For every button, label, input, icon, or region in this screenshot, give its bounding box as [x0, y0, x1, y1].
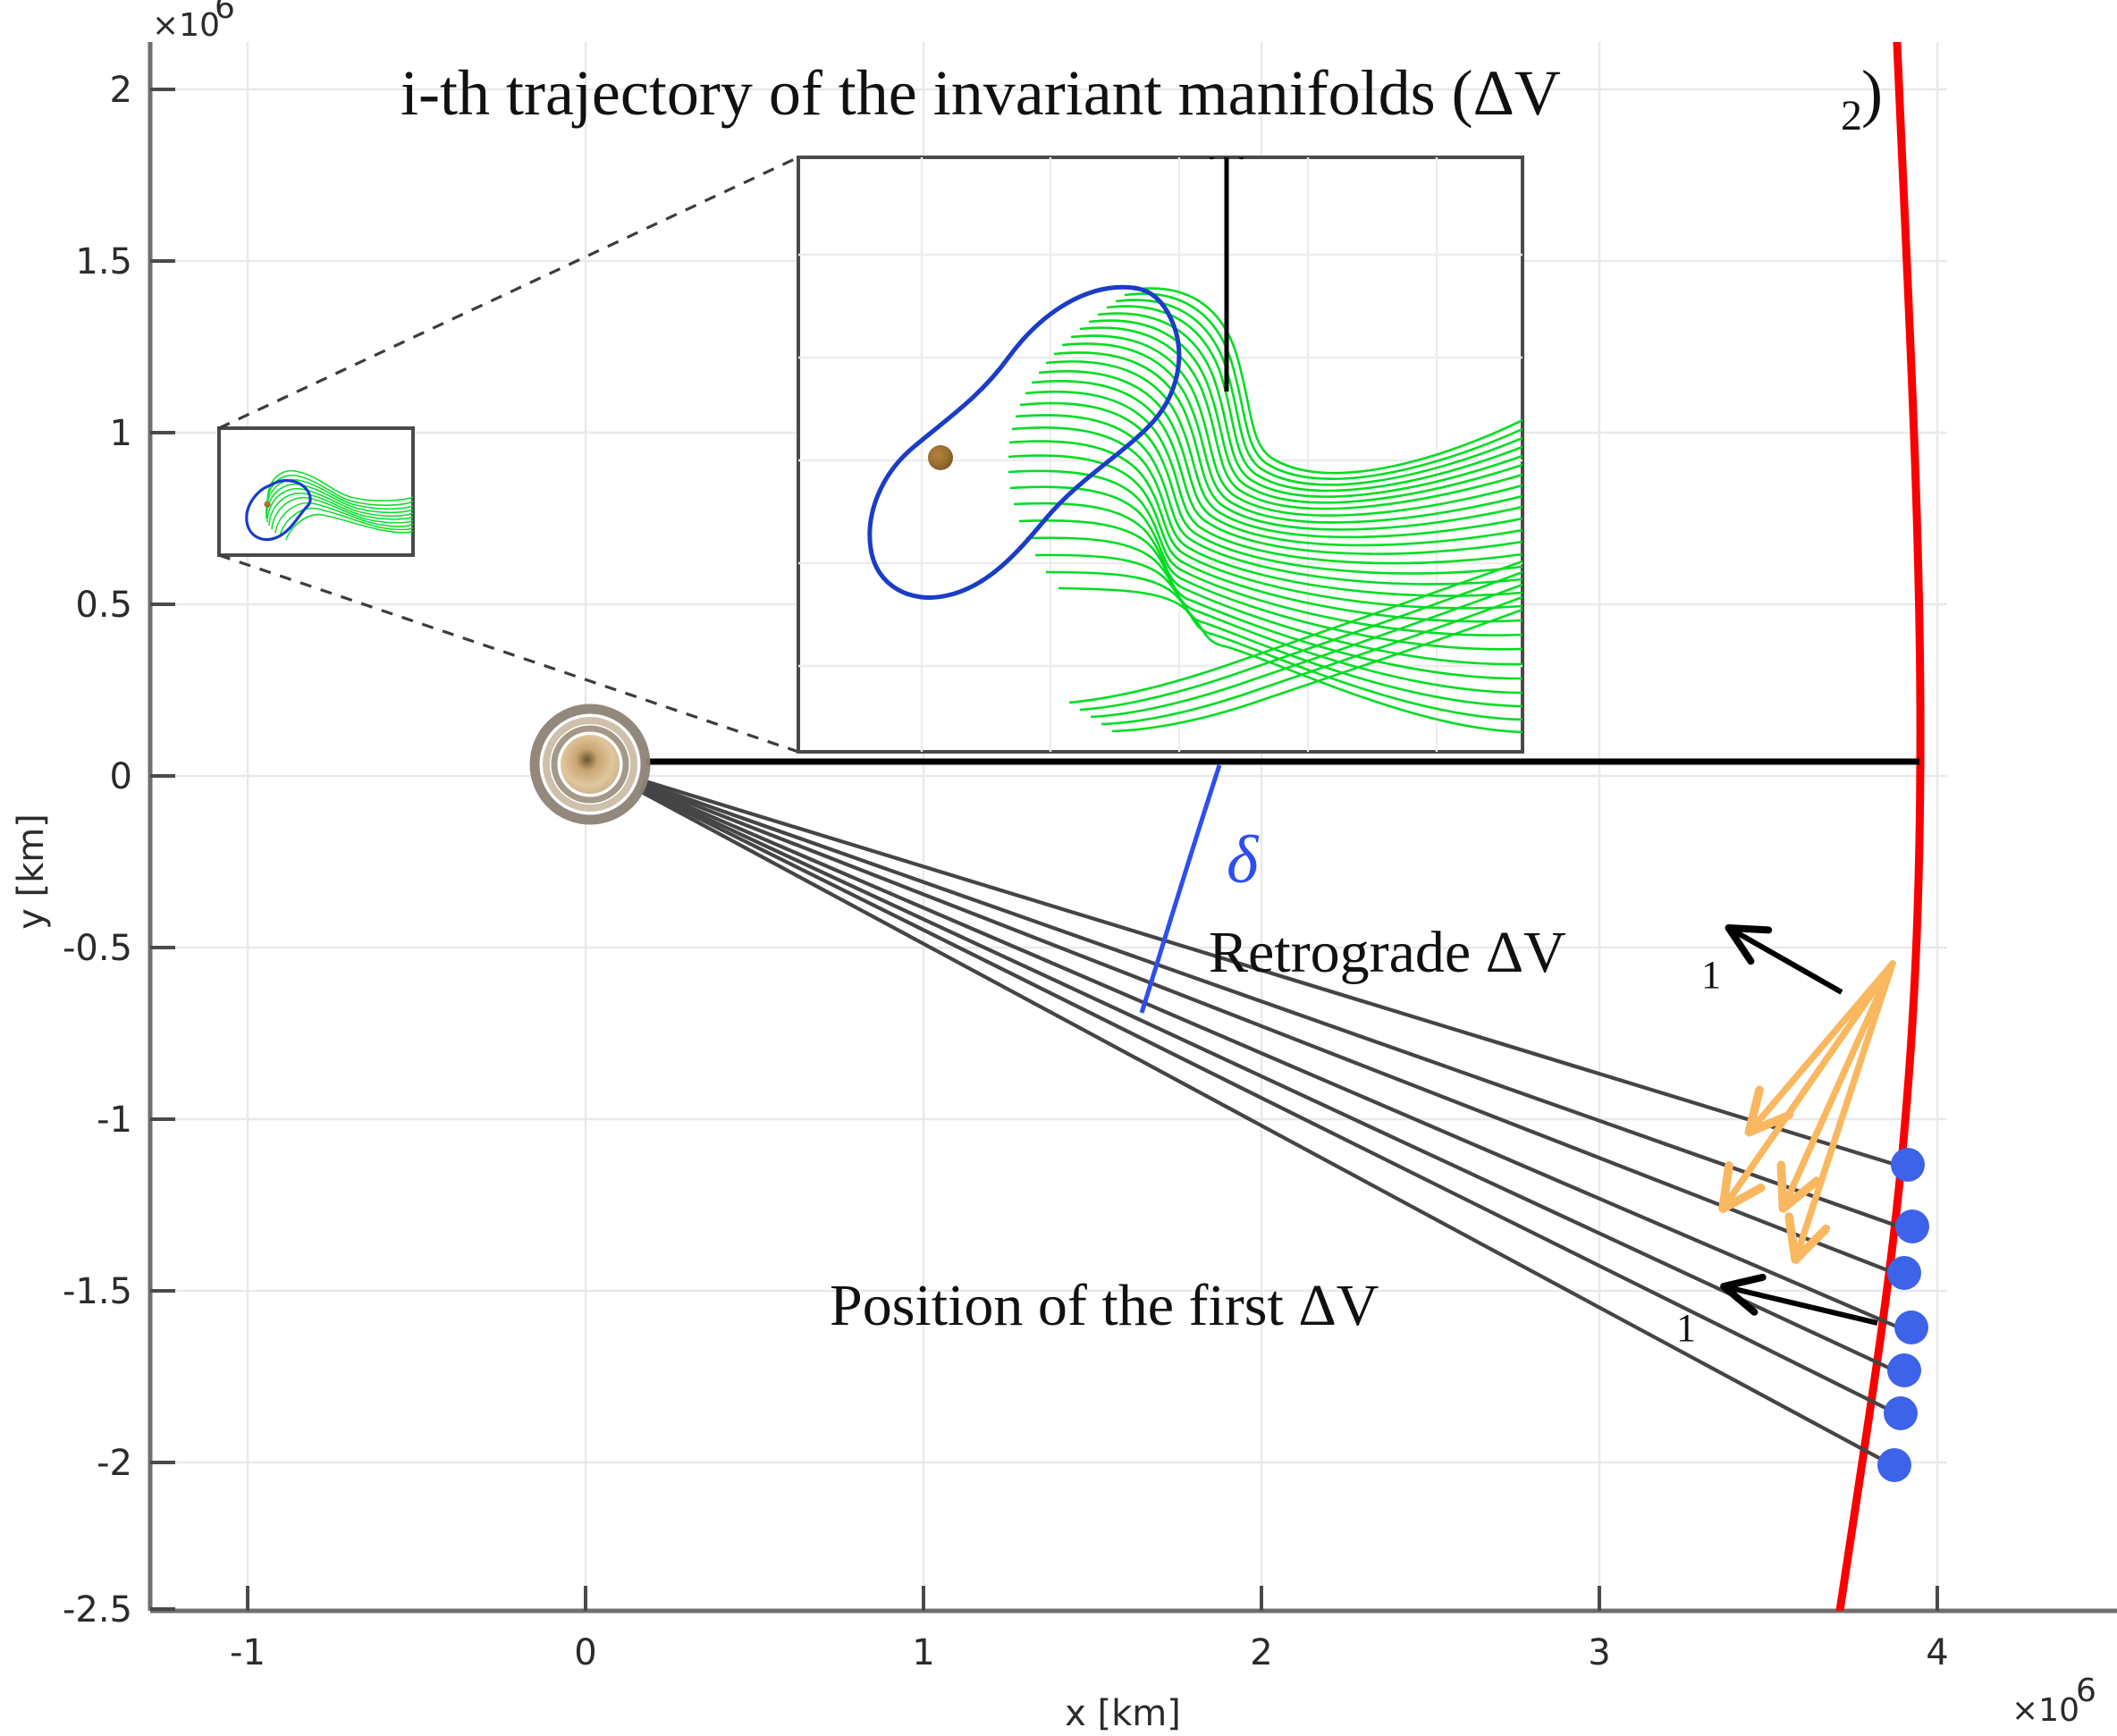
delta-angle-arc: [1142, 765, 1219, 1013]
dv1-impulse-arrows: [1727, 964, 1893, 1252]
x-tick-label: 0: [574, 1632, 596, 1673]
x-exponent-power: 6: [2076, 1673, 2096, 1709]
y-tick-label: 1: [110, 413, 132, 454]
x-tick-label: -1: [230, 1632, 266, 1673]
retrograde-pointer-arrow: [1732, 930, 1842, 992]
figure-root: i-th trajectory of the invariant manifol…: [0, 0, 2117, 1736]
position-label-main: Position of the first ΔV: [830, 1273, 1379, 1338]
y-tick-label: 1.5: [75, 241, 132, 282]
y-tick-label: -2.5: [63, 1589, 132, 1631]
y-tick-label: 0: [110, 756, 132, 797]
y-axis-title: y [km]: [11, 813, 52, 930]
dv1-dot: [1887, 1256, 1921, 1290]
moon-marker: [928, 445, 953, 470]
dv1-dot: [1895, 1209, 1929, 1243]
zoom-inset-panel: [798, 130, 1522, 752]
y-tick-labels: 2 1.5 1 0.5 0 -0.5 -1 -1.5 -2 -2.5: [63, 70, 132, 1631]
y-exponent-base: ×10: [152, 7, 220, 44]
x-axis-title: x [km]: [1065, 1693, 1181, 1734]
mini-inset: [219, 428, 413, 555]
dv1-dot: [1884, 1396, 1918, 1430]
x-axis-exponent: ×10 6: [2012, 1673, 2096, 1729]
planet-icon: [534, 708, 646, 821]
title-close-paren: ): [1861, 57, 1883, 129]
y-exponent-power: 6: [215, 0, 235, 26]
x-exponent-base: ×10: [2012, 1692, 2079, 1729]
dv1-dot: [1877, 1448, 1911, 1482]
x-tick-label: 4: [1926, 1632, 1948, 1673]
dv1-dot: [1891, 1148, 1925, 1182]
dv1-dot: [1887, 1353, 1921, 1387]
y-axis-exponent: ×10 6: [152, 0, 235, 44]
retrograde-label-subscript: 1: [1701, 953, 1721, 997]
y-tick-label: -0.5: [63, 928, 132, 969]
x-tick-label: 2: [1250, 1632, 1272, 1673]
delta-angle-label: δ: [1227, 822, 1260, 897]
dv1-dot: [1894, 1310, 1928, 1344]
title-subscript-text: 2: [1841, 92, 1862, 139]
retrograde-label-main: Retrograde ΔV: [1209, 920, 1566, 985]
y-tick-label: 0.5: [75, 585, 132, 626]
x-tick-label: 3: [1588, 1632, 1610, 1673]
title-main-text: i-th trajectory of the invariant manifol…: [401, 57, 1561, 129]
chart-canvas: i-th trajectory of the invariant manifol…: [0, 0, 2117, 1736]
y-tick-label: -1.5: [63, 1271, 132, 1312]
x-tick-labels: -1 0 1 2 3 4: [230, 1632, 1949, 1673]
x-tick-label: 1: [912, 1632, 934, 1673]
y-tick-label: -2: [97, 1443, 132, 1484]
y-tick-label: -1: [97, 1100, 132, 1141]
position-label-subscript: 1: [1676, 1306, 1696, 1350]
y-tick-label: 2: [110, 70, 132, 111]
